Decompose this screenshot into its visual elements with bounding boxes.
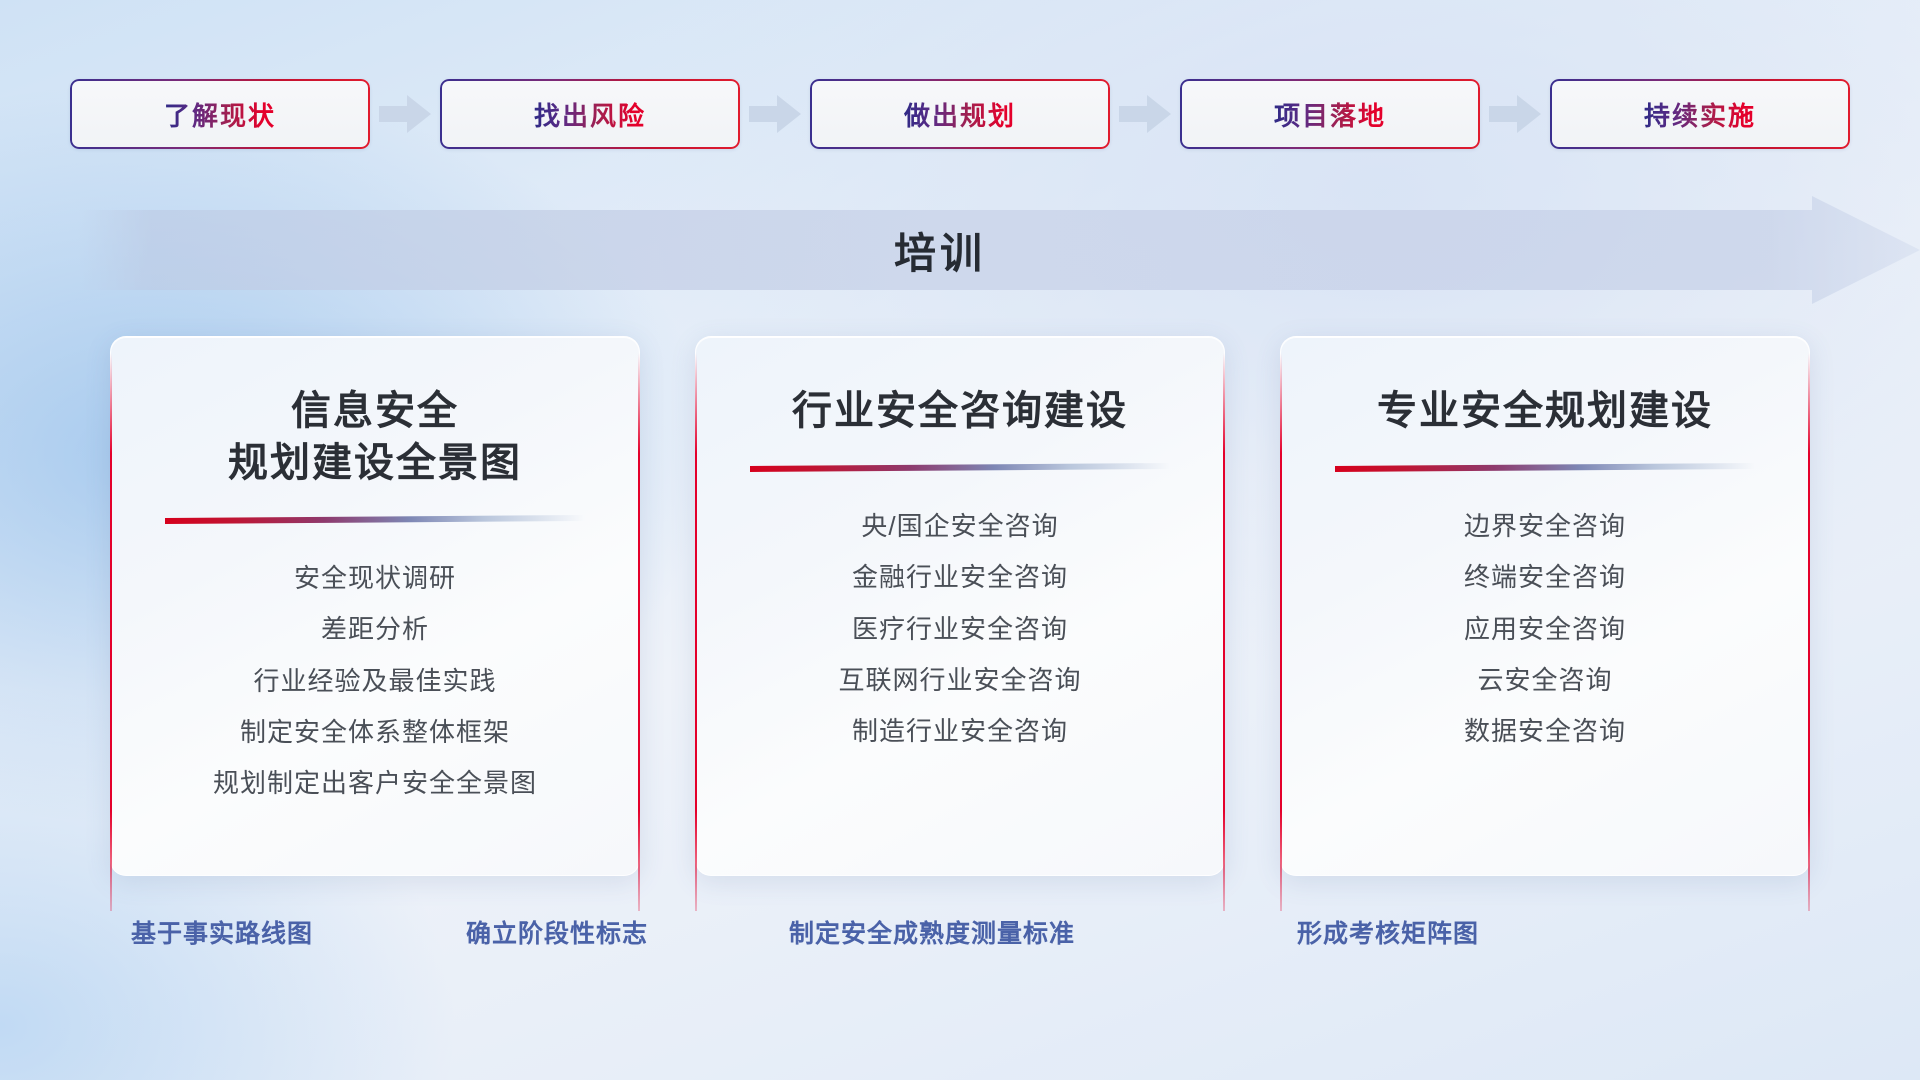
list-item: 制造行业安全咨询: [852, 711, 1068, 751]
card-title-2: 专业安全规划建设: [1377, 385, 1713, 437]
arrow-right-icon-3: [1480, 91, 1550, 137]
banner-title: 培训: [0, 196, 1880, 304]
card-list-1: 央/国企安全咨询 金融行业安全咨询 医疗行业安全咨询 互联网行业安全咨询 制造行…: [696, 506, 1224, 751]
step-box-3[interactable]: 项目落地: [1180, 79, 1480, 149]
list-item: 差距分析: [321, 609, 429, 649]
step-box-4[interactable]: 持续实施: [1550, 79, 1850, 149]
step-box-0[interactable]: 了解现状: [70, 79, 370, 149]
list-item: 规划制定出客户安全全景图: [213, 763, 537, 803]
list-item: 边界安全咨询: [1464, 506, 1626, 546]
list-item: 央/国企安全咨询: [861, 506, 1058, 546]
caption-2: 制定安全成熟度测量标准: [789, 912, 1075, 956]
bottom-captions: 基于事实路线图 确立阶段性标志 制定安全成熟度测量标准 形成考核矩阵图: [0, 912, 1920, 972]
list-item: 金融行业安全咨询: [852, 557, 1068, 597]
training-banner: 培训: [0, 196, 1920, 304]
arrow-right-icon-0: [370, 91, 440, 137]
card-divider-1: [750, 463, 1170, 472]
list-item: 数据安全咨询: [1464, 711, 1626, 751]
process-step-flow: 了解现状 找出风险 做出规划 项目落地 持续实施: [70, 78, 1850, 150]
card-right-accent-2: [1808, 353, 1810, 911]
arrow-right-icon-2: [1110, 91, 1180, 137]
card-left-accent-0: [110, 353, 112, 911]
list-item: 行业经验及最佳实践: [253, 661, 496, 701]
list-item: 安全现状调研: [294, 558, 456, 598]
list-item: 终端安全咨询: [1464, 557, 1626, 597]
step-label-1: 找出风险: [534, 96, 646, 133]
card-divider-0: [165, 515, 585, 524]
card-list-0: 安全现状调研 差距分析 行业经验及最佳实践 制定安全体系整体框架 规划制定出客户…: [111, 558, 639, 803]
card-list-2: 边界安全咨询 终端安全咨询 应用安全咨询 云安全咨询 数据安全咨询: [1281, 506, 1809, 751]
step-label-2: 做出规划: [904, 96, 1016, 133]
step-label-0: 了解现状: [164, 96, 276, 133]
card-title-0: 信息安全 规划建设全景图: [228, 385, 522, 489]
slide-canvas: 了解现状 找出风险 做出规划 项目落地 持续实施 培训: [0, 0, 1920, 1080]
card-left-accent-1: [695, 353, 697, 911]
list-item: 医疗行业安全咨询: [852, 609, 1068, 649]
card-0[interactable]: 信息安全 规划建设全景图 安全现状调研 差距分析 行业经验及最佳实践 制定安全体…: [110, 336, 640, 876]
step-box-2[interactable]: 做出规划: [810, 79, 1110, 149]
card-title-1: 行业安全咨询建设: [792, 385, 1128, 437]
list-item: 云安全咨询: [1477, 660, 1612, 700]
card-right-accent-1: [1223, 353, 1225, 911]
caption-3: 形成考核矩阵图: [1297, 912, 1479, 956]
cards-row: 信息安全 规划建设全景图 安全现状调研 差距分析 行业经验及最佳实践 制定安全体…: [110, 336, 1810, 876]
list-item: 制定安全体系整体框架: [240, 712, 510, 752]
card-2[interactable]: 专业安全规划建设 边界安全咨询 终端安全咨询 应用安全咨询 云安全咨询 数据安全…: [1280, 336, 1810, 876]
card-1[interactable]: 行业安全咨询建设 央/国企安全咨询 金融行业安全咨询 医疗行业安全咨询 互联网行…: [695, 336, 1225, 876]
step-box-1[interactable]: 找出风险: [440, 79, 740, 149]
caption-0: 基于事实路线图: [131, 912, 313, 956]
step-label-4: 持续实施: [1644, 96, 1756, 133]
card-right-accent-0: [638, 353, 640, 911]
arrow-right-icon-1: [740, 91, 810, 137]
card-divider-2: [1335, 463, 1755, 472]
list-item: 应用安全咨询: [1464, 609, 1626, 649]
step-label-3: 项目落地: [1274, 96, 1386, 133]
caption-1: 确立阶段性标志: [466, 912, 648, 956]
list-item: 互联网行业安全咨询: [838, 660, 1081, 700]
card-left-accent-2: [1280, 353, 1282, 911]
